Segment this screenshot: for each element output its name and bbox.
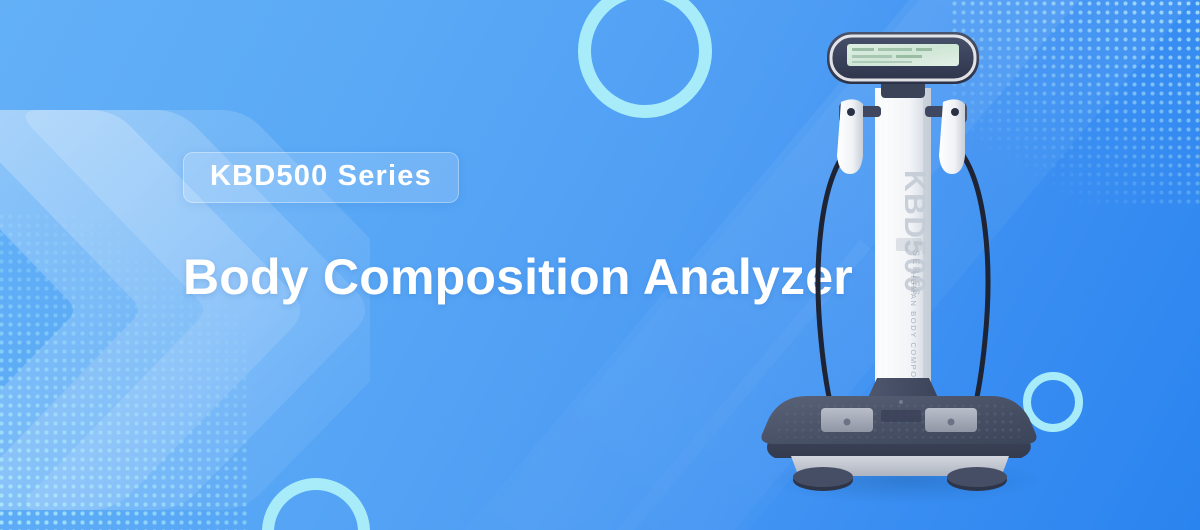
cable-left <box>818 150 847 422</box>
hand-grip-left <box>837 99 881 174</box>
series-badge: KBD500 Series <box>183 152 459 203</box>
cable-right <box>959 150 988 422</box>
base-center-detail <box>881 410 921 422</box>
product-image: KBD500 SERIES HUMAN BODY COMPOSITION ANA… <box>735 10 1065 520</box>
hand-grip-right <box>925 99 967 174</box>
ring-circle-top <box>578 0 712 118</box>
product-hero-banner: KBD500 Series Body Composition Analyzer <box>0 0 1200 530</box>
